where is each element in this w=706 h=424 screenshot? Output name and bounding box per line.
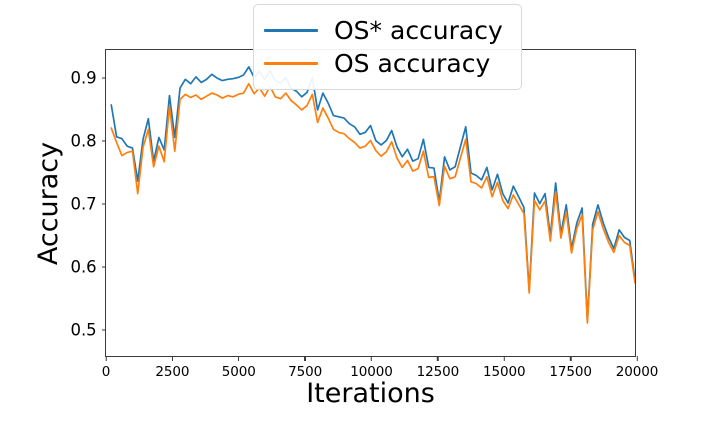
legend-line-swatch [264,29,318,32]
plot-area: 0.50.60.70.80.9 025005000750010000125001… [105,49,636,357]
legend-label: OS accuracy [334,49,490,78]
x-tick: 12500 [417,356,459,380]
chart-legend: OS* accuracyOS accuracy [253,4,522,90]
y-tick: 0.9 [71,69,106,88]
y-tick: 0.5 [71,320,106,339]
x-tick-mark [636,356,637,361]
x-tick: 15000 [483,356,525,380]
y-tick: 0.6 [71,257,106,276]
y-tick-mark [102,203,107,204]
y-tick-label: 0.7 [71,195,102,214]
series-canvas [106,50,635,356]
x-tick-mark [371,356,372,361]
y-tick: 0.8 [71,132,106,151]
y-axis-title: Accuracy [32,49,66,357]
x-tick-mark [437,356,438,361]
x-tick: 0 [102,356,111,380]
x-tick: 17500 [549,356,591,380]
y-tick-label: 0.9 [71,69,102,88]
x-tick-mark [504,356,505,361]
y-axis-title-text: Accuracy [34,141,65,264]
x-tick-mark [304,356,305,361]
x-tick: 10000 [350,356,392,380]
chart-figure: Accuracy 0.50.60.70.80.9 025005000750010… [0,0,706,424]
y-tick-mark [102,78,107,79]
legend-entry: OS* accuracy [264,14,507,47]
line-os-accuracy [111,84,635,323]
legend-line-swatch [264,62,318,65]
x-tick: 7500 [288,356,322,380]
x-tick-mark [238,356,239,361]
x-axis-title-text: Iterations [306,378,435,409]
y-tick-label: 0.6 [71,257,102,276]
y-tick: 0.7 [71,195,106,214]
x-tick: 5000 [222,356,256,380]
y-tick-mark [102,266,107,267]
y-tick-label: 0.5 [71,320,102,339]
x-tick-mark [570,356,571,361]
x-tick: 20000 [616,356,658,380]
legend-entry: OS accuracy [264,47,507,80]
x-tick: 2500 [155,356,189,380]
y-tick-label: 0.8 [71,132,102,151]
x-axis-title: Iterations [105,378,636,409]
legend-label: OS* accuracy [334,16,503,45]
x-tick-mark [105,356,106,361]
x-tick-mark [172,356,173,361]
y-tick-mark [102,140,107,141]
y-tick-mark [102,329,107,330]
